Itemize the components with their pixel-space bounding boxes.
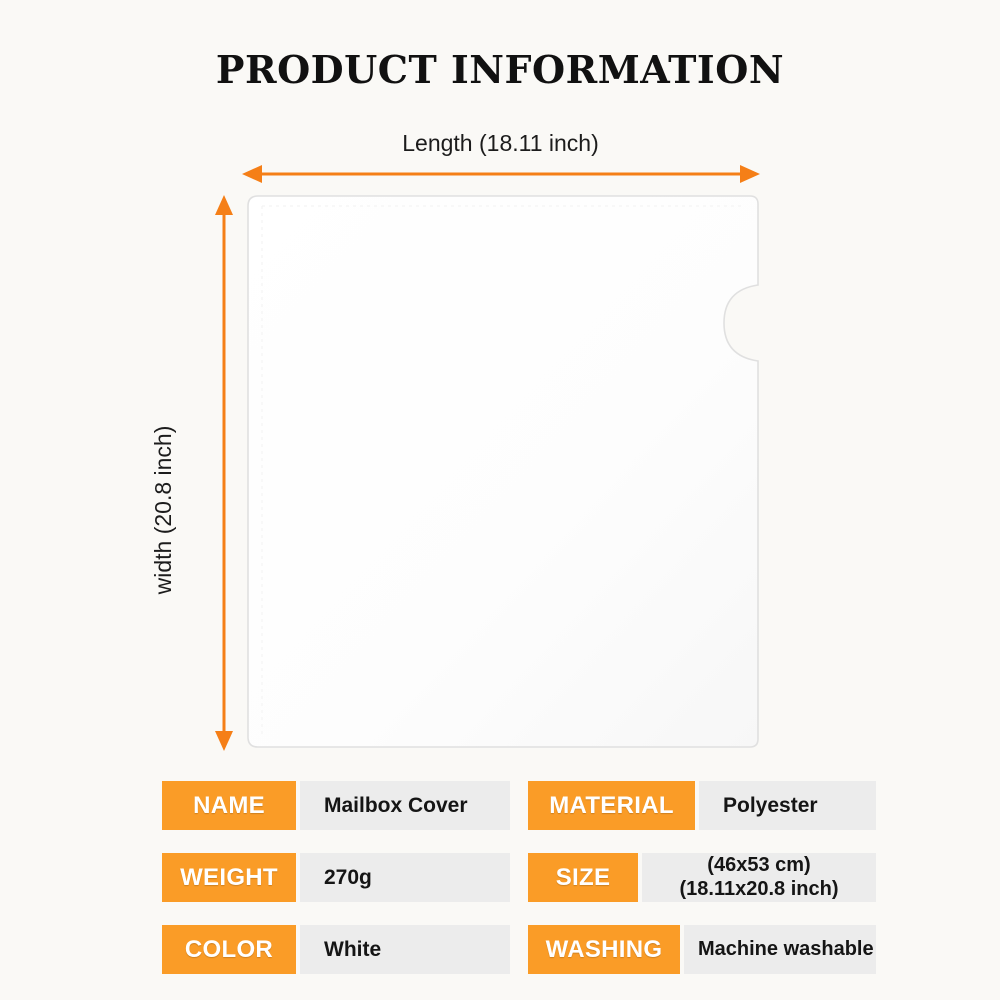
spec-value-material: Polyester bbox=[699, 781, 876, 830]
spec-value-washing: Machine washable bbox=[684, 925, 876, 974]
spec-label-color: COLOR bbox=[162, 925, 296, 974]
spec-row-material: MATERIAL Polyester bbox=[528, 781, 876, 830]
spec-row-name: NAME Mailbox Cover bbox=[162, 781, 510, 830]
spec-label-material: MATERIAL bbox=[528, 781, 695, 830]
spec-label-weight: WEIGHT bbox=[162, 853, 296, 902]
spec-row-color: COLOR White bbox=[162, 925, 510, 974]
spec-row-size: SIZE (46x53 cm) (18.11x20.8 inch) bbox=[528, 853, 876, 902]
spec-value-weight: 270g bbox=[300, 853, 510, 902]
spec-value-size-line-1: (46x53 cm) bbox=[707, 854, 810, 878]
spec-label-name: NAME bbox=[162, 781, 296, 830]
spec-value-size-line-2: (18.11x20.8 inch) bbox=[680, 878, 839, 902]
spec-value-size: (46x53 cm) (18.11x20.8 inch) bbox=[642, 853, 876, 902]
spec-table: NAME Mailbox Cover WEIGHT 270g COLOR Whi… bbox=[0, 0, 1000, 1000]
spec-value-name: Mailbox Cover bbox=[300, 781, 510, 830]
spec-label-size: SIZE bbox=[528, 853, 638, 902]
spec-row-washing: WASHING Machine washable bbox=[528, 925, 876, 974]
spec-value-color: White bbox=[300, 925, 510, 974]
spec-row-weight: WEIGHT 270g bbox=[162, 853, 510, 902]
product-information-infographic: PRODUCT INFORMATION Length (18.11 inch) … bbox=[0, 0, 1000, 1000]
spec-label-washing: WASHING bbox=[528, 925, 680, 974]
